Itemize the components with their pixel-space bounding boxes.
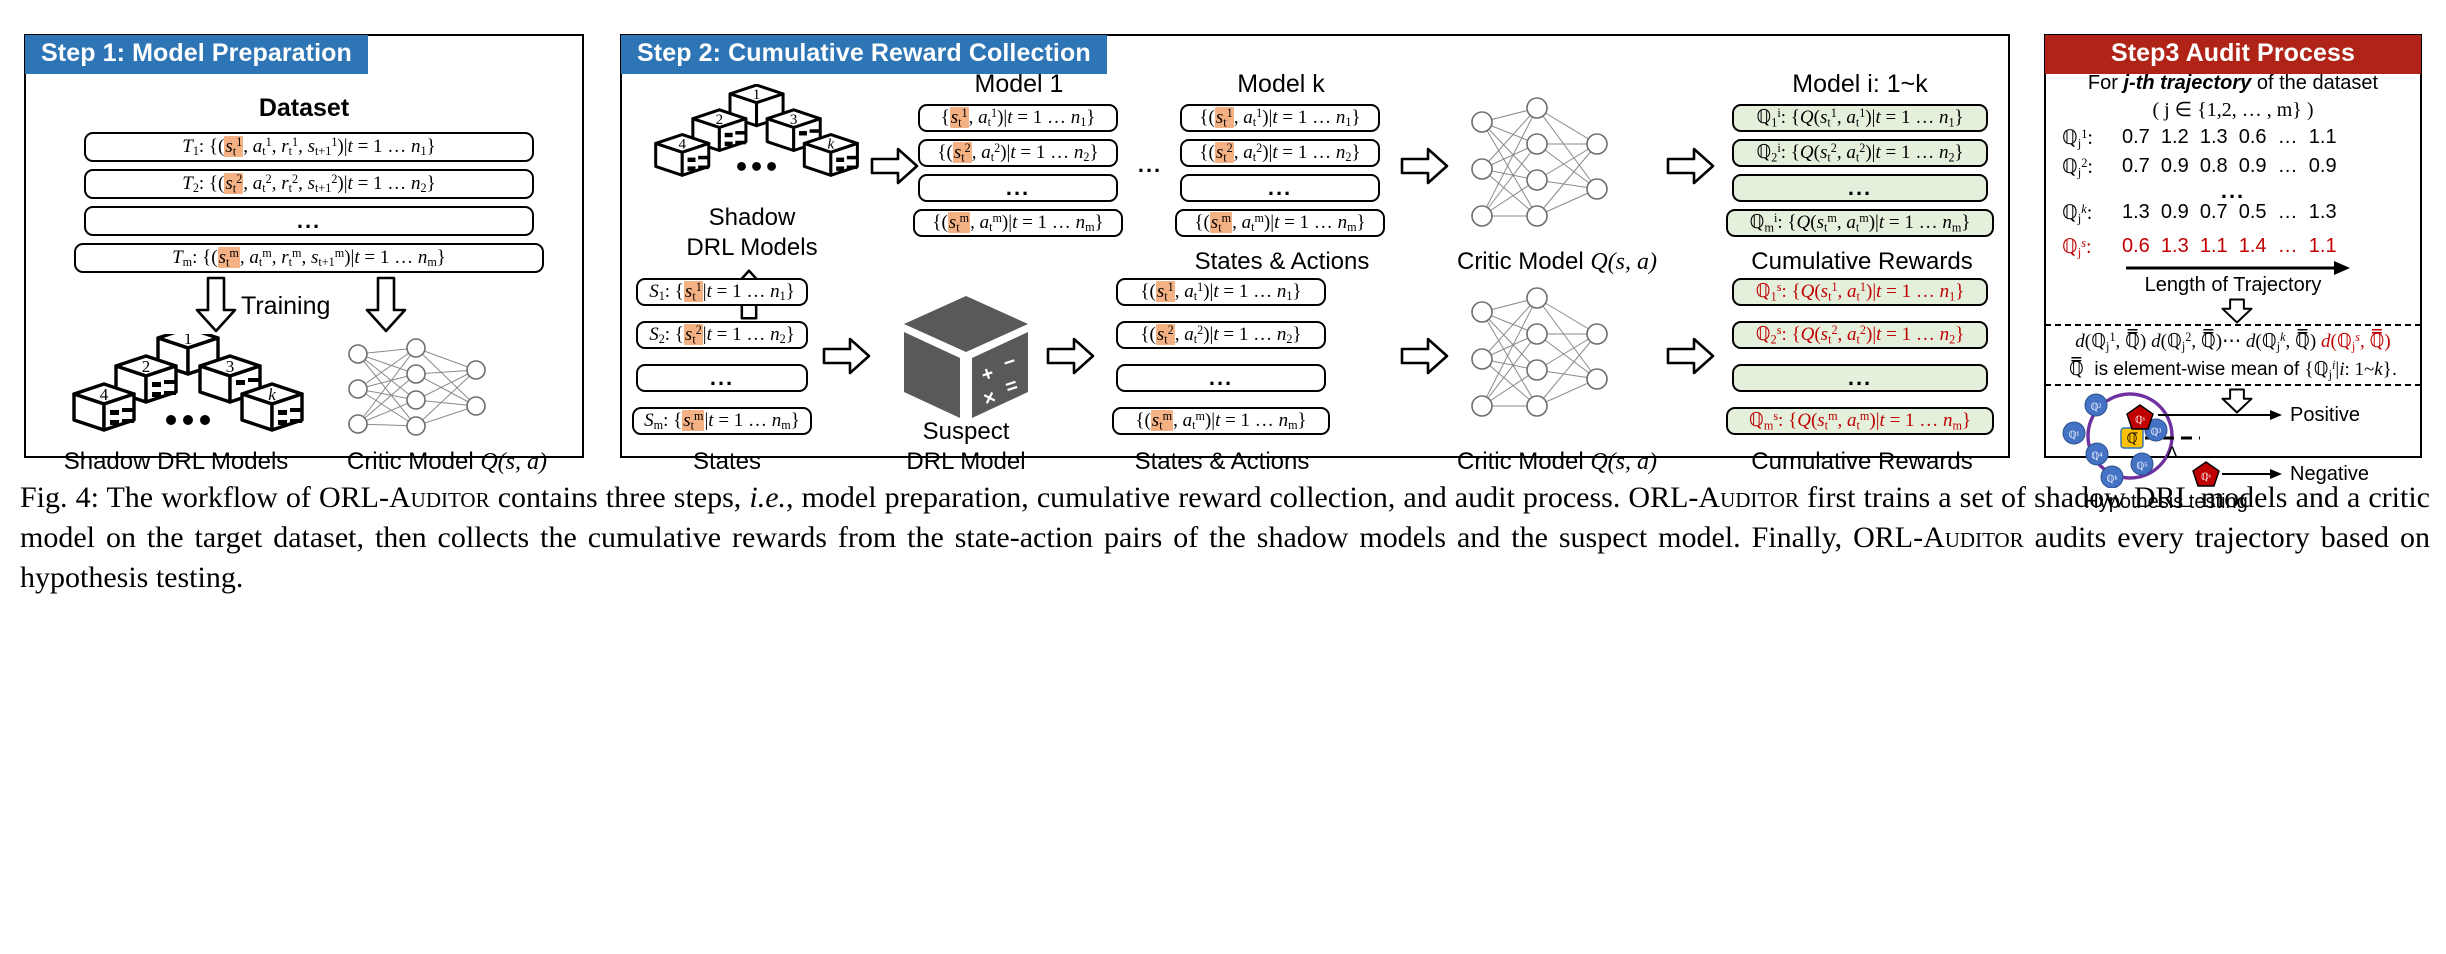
dataset-row-2: T2: {(st2, at2, rt2, st+12)|t = 1 … n2} xyxy=(84,169,534,199)
svg-text:k: k xyxy=(828,137,835,153)
svg-text:4: 4 xyxy=(678,137,686,153)
modelk-header-text: Model k xyxy=(1237,70,1325,98)
q-row-label-1: ℚj1: xyxy=(2062,125,2093,151)
model1-box-ellipsis: ... xyxy=(918,174,1118,202)
svg-text:1: 1 xyxy=(753,87,761,103)
ellipsis-text: ... xyxy=(297,208,321,234)
critic-network-bottom-icon xyxy=(1462,284,1642,434)
ellipsis-text: ... xyxy=(1268,175,1292,201)
modelk-box-1: {(st1, at1)|t = 1 … n1} xyxy=(1180,104,1380,132)
q-row-label-k: ℚjk: xyxy=(2062,200,2092,226)
critic-caption-prefix: Critic Model xyxy=(1457,448,1590,475)
reward-box-top-1: ℚ1i: {Q(st1, at1)|t = 1 … n1} xyxy=(1732,104,1988,132)
caption-smallcaps-2: Auditor xyxy=(1698,481,1799,514)
svg-text:1: 1 xyxy=(184,334,193,348)
svg-text:ℚ¹: ℚ¹ xyxy=(2069,430,2080,441)
modelk-box-2: {(st2, at2)|t = 1 … n2} xyxy=(1180,139,1380,167)
step1-title: Step 1: Model Preparation xyxy=(25,35,368,74)
intro-bold: j-th trajectory xyxy=(2123,72,2251,94)
dataset-row-1: T1: {(st1, at1, rt1, st+11)|t = 1 … n1} xyxy=(84,132,534,162)
suspect-sa-box-1: {(st1, at1)|t = 1 … n1} xyxy=(1116,278,1326,306)
ellipsis-text: ... xyxy=(1209,365,1233,391)
caption-part-5: , model preparation, cumulative reward c… xyxy=(786,481,1698,514)
modeli-header-text: Model i: 1~k xyxy=(1792,70,1928,98)
step2-shadow-caption-l2: DRL Models xyxy=(642,234,862,262)
mean-note: ℚ̿ is element-wise mean of {ℚji|i: 1~k}. xyxy=(2046,358,2420,382)
suspect-caption-l2: DRL Model xyxy=(876,448,1056,476)
modelk-box-m: {(stm, atm)|t = 1 … nm} xyxy=(1175,209,1385,237)
step1-panel: Step 1: Model Preparation Dataset T1: {(… xyxy=(24,34,584,458)
states-actions-caption-top: States & Actions xyxy=(1112,248,1452,276)
modelk-header: Model k xyxy=(1166,70,1396,99)
state-box-ellipsis: ... xyxy=(636,364,808,392)
svg-text:ℚˢ: ℚˢ xyxy=(2135,415,2145,426)
caption-part-1: Fig. 4: The workflow of ORL- xyxy=(20,481,389,514)
critic-network-top-icon xyxy=(1462,94,1642,244)
arrow-right-suspect-to-sa-icon xyxy=(1046,336,1096,376)
intro-suffix: of the dataset xyxy=(2251,72,2378,94)
reward-box-bottom-1: ℚ1s: {Q(st1, at1)|t = 1 … n1} xyxy=(1732,278,1988,306)
step3-intro-line1: For j-th trajectory of the dataset xyxy=(2046,72,2420,95)
svg-text:ℚ̅: ℚ̅ xyxy=(2126,432,2138,447)
q-row-label-s: ℚjs: xyxy=(2062,234,2092,260)
dataset-label: Dataset xyxy=(26,94,582,123)
ellipsis-text: ... xyxy=(1848,365,1872,391)
state-box-1: S1: {st1|t = 1 … n1} xyxy=(636,278,808,306)
cumulative-caption-bottom: Cumulative Rewards xyxy=(1712,448,2012,476)
models-gap-ellipsis: ... xyxy=(1130,151,1170,179)
arrow-right-sa-to-critic-bottom-icon xyxy=(1400,336,1450,376)
reward-box-top-2: ℚ2i: {Q(st2, at2)|t = 1 … n2} xyxy=(1732,139,1988,167)
arrow-right-states-to-suspect-icon xyxy=(822,336,872,376)
positive-label: Positive xyxy=(2290,404,2360,427)
arrow-right-shadow-to-model1-icon xyxy=(870,146,920,186)
suspect-drl-model-cube-icon: + − × = xyxy=(898,294,1034,424)
reward-box-top-ellipsis: ... xyxy=(1732,174,1988,202)
caption-italic-ie: i.e. xyxy=(749,481,786,514)
step1-critic-caption: Critic Model Q(s, a) xyxy=(322,448,572,476)
arrow-right-sa-to-critic-top-icon xyxy=(1400,146,1450,186)
svg-text:2: 2 xyxy=(142,357,151,376)
critic-caption-math: Q(s, a) xyxy=(1590,249,1657,275)
svg-text:k: k xyxy=(268,385,276,404)
state-box-m: Sm: {stm|t = 1 … nm} xyxy=(632,407,812,435)
q-row-values-s: 0.6 1.3 1.1 1.4 … 1.1 xyxy=(2122,235,2337,258)
training-arrow-down-icon xyxy=(194,276,238,334)
modeli-header: Model i: 1~k xyxy=(1730,70,1990,99)
svg-text:ℚ²: ℚ² xyxy=(2091,402,2102,413)
svg-text:Δ: Δ xyxy=(2166,443,2177,462)
svg-text:4: 4 xyxy=(100,385,109,404)
reward-box-top-m: ℚmi: {Q(stm, atm)|t = 1 … nm} xyxy=(1726,209,1994,237)
q-row-values-k: 1.3 0.9 0.7 0.5 … 1.3 xyxy=(2122,201,2337,224)
svg-text:ℚ⁵: ℚ⁵ xyxy=(2136,461,2147,472)
ellipsis-text: ... xyxy=(1848,175,1872,201)
caption-smallcaps-1: Auditor xyxy=(389,481,490,514)
model1-box-2: {(st2, at2)|t = 1 … n2} xyxy=(918,139,1118,167)
states-actions-caption-bottom: States & Actions xyxy=(1112,448,1332,476)
arrow-right-critic-to-rewards-bottom-icon xyxy=(1666,336,1716,376)
step2-shadow-models-cubes-icon: 123 4k xyxy=(638,84,868,194)
suspect-caption-l1: Suspect xyxy=(886,418,1046,446)
training-arrow-down-icon-2 xyxy=(364,276,408,334)
critic-caption-math: Q(s, a) xyxy=(1590,449,1657,475)
modelk-box-ellipsis: ... xyxy=(1180,174,1380,202)
ellipsis-text: ... xyxy=(1006,175,1030,201)
model1-header: Model 1 xyxy=(904,70,1134,99)
states-caption: States xyxy=(642,448,812,476)
dataset-row-ellipsis: ... xyxy=(84,206,534,236)
step2-title: Step 2: Cumulative Reward Collection xyxy=(621,35,1107,74)
model1-box-m: {(stm, atm)|t = 1 … nm} xyxy=(913,209,1123,237)
q-row-label-2: ℚj2: xyxy=(2062,154,2093,180)
step3-panel: Step3 Audit Process For j-th trajectory … xyxy=(2044,34,2422,458)
arrow-down-to-distance-icon xyxy=(2220,298,2254,324)
svg-text:ℚ⁴: ℚ⁴ xyxy=(2091,451,2103,462)
reward-box-bottom-2: ℚ2s: {Q(st2, at2)|t = 1 … n2} xyxy=(1732,321,1988,349)
reward-box-bottom-ellipsis: ... xyxy=(1732,364,1988,392)
step3-intro-line2: ( j ∈ {1,2, … , m} ) xyxy=(2046,97,2420,122)
suspect-sa-box-m: {(stm, atm)|t = 1 … nm} xyxy=(1112,407,1330,435)
critic-caption-math: Q(s, a) xyxy=(480,449,547,475)
figure-caption: Fig. 4: The workflow of ORL-Auditor cont… xyxy=(20,478,2430,598)
cumulative-caption-top: Cumulative Rewards xyxy=(1712,248,2012,276)
length-of-trajectory-label: Length of Trajectory xyxy=(2046,274,2420,297)
critic-caption-prefix: Critic Model xyxy=(1457,248,1590,275)
svg-text:ℚ³: ℚ³ xyxy=(2151,427,2162,438)
critic-caption-prefix: Critic Model xyxy=(347,448,480,475)
caption-part-3: contains three steps, xyxy=(490,481,750,514)
suspect-sa-box-ellipsis: ... xyxy=(1116,364,1326,392)
divider-dashed-2 xyxy=(2045,384,2421,386)
shadow-models-cubes-icon: 1 2 3 4 k xyxy=(54,334,314,444)
svg-text:2: 2 xyxy=(716,112,724,128)
svg-text:3: 3 xyxy=(790,112,798,128)
suspect-sa-box-2: {(st2, at2)|t = 1 … n2} xyxy=(1116,321,1326,349)
step2-panel: Step 2: Cumulative Reward Collection 123… xyxy=(620,34,2010,458)
training-label: Training xyxy=(241,292,330,321)
caption-smallcaps-3: Auditor xyxy=(1923,521,2024,554)
critic-caption-bottom: Critic Model Q(s, a) xyxy=(1442,448,1672,476)
q-row-values-2: 0.7 0.9 0.8 0.9 … 0.9 xyxy=(2122,155,2337,178)
step1-shadow-caption: Shadow DRL Models xyxy=(36,448,316,476)
intro-prefix: For xyxy=(2088,72,2124,94)
divider-dashed-1 xyxy=(2045,324,2421,326)
q-row-values-1: 0.7 1.2 1.3 0.6 … 1.1 xyxy=(2122,126,2337,149)
critic-model-network-icon xyxy=(336,334,536,444)
reward-box-bottom-m: ℚms: {Q(stm, atm)|t = 1 … nm} xyxy=(1726,407,1994,435)
step3-title: Step3 Audit Process xyxy=(2045,35,2421,74)
state-box-2: S2: {st2|t = 1 … n2} xyxy=(636,321,808,349)
critic-caption-top: Critic Model Q(s, a) xyxy=(1442,248,1672,276)
dataset-row-m: Tm: {(stm, atm, rtm, st+1m)|t = 1 … nm} xyxy=(74,243,544,273)
distance-line: d(ℚj1, ℚ̿) d(ℚj2, ℚ̿)⋯ d(ℚjk, ℚ̿) d(ℚjs,… xyxy=(2046,330,2420,354)
figure-root: Step 1: Model Preparation Dataset T1: {(… xyxy=(0,0,2446,954)
model1-box-1: {st1, at1)|t = 1 … n1} xyxy=(918,104,1118,132)
step2-shadow-caption-l1: Shadow xyxy=(652,204,852,232)
arrow-right-critic-to-rewards-top-icon xyxy=(1666,146,1716,186)
ellipsis-text: ... xyxy=(710,365,734,391)
svg-text:3: 3 xyxy=(226,357,235,376)
